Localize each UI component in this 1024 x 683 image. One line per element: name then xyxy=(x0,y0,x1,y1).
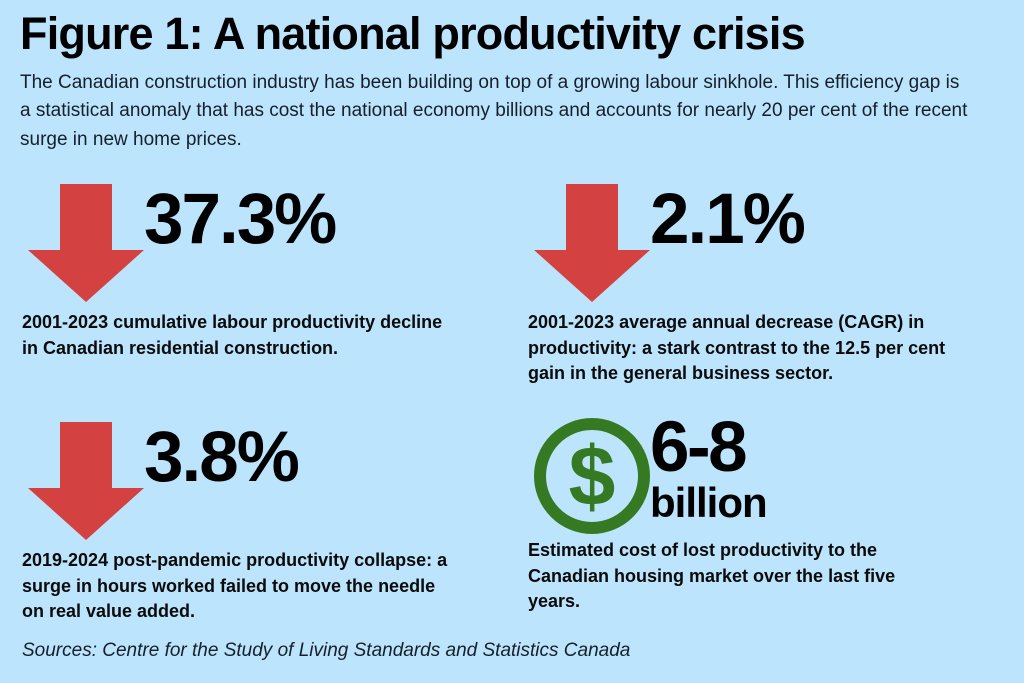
figure-header: Figure 1: A national productivity crisis… xyxy=(20,10,1004,155)
stats-grid: 37.3% 2001-2023 cumulative labour produc… xyxy=(0,178,1024,618)
stat-value-group-2: 2.1% xyxy=(650,178,998,255)
stat-caption-1: 2001-2023 cumulative labour productivity… xyxy=(22,310,452,361)
dollar-circle-icon: $ xyxy=(528,406,656,534)
stat-block-2: 2.1% 2001-2023 average annual decrease (… xyxy=(528,178,998,387)
down-arrow-icon xyxy=(22,416,150,544)
infographic-figure: Figure 1: A national productivity crisis… xyxy=(0,0,1024,683)
intro-paragraph: The Canadian construction industry has b… xyxy=(20,69,972,156)
stat-value-group-1: 37.3% xyxy=(144,178,492,255)
stat-headline-2: 2.1% xyxy=(528,178,998,306)
stat-headline-4: $ 6-8 billion xyxy=(528,406,998,534)
stat-caption-3: 2019-2024 post-pandemic productivity col… xyxy=(22,548,452,625)
stat-value-3: 3.8% xyxy=(144,422,492,493)
sources-note: Sources: Centre for the Study of Living … xyxy=(22,640,630,662)
stat-caption-2: 2001-2023 average annual decrease (CAGR)… xyxy=(528,310,948,387)
stat-value-4: 6-8 xyxy=(650,412,998,483)
stat-value-1: 37.3% xyxy=(144,184,492,255)
stat-block-4: $ 6-8 billion Estimated cost of lost pro… xyxy=(528,406,998,615)
stat-headline-3: 3.8% xyxy=(22,416,492,544)
stat-block-3: 3.8% 2019-2024 post-pandemic productivit… xyxy=(22,416,492,625)
stat-value-2: 2.1% xyxy=(650,184,998,255)
stat-value-group-3: 3.8% xyxy=(144,416,492,493)
stat-unit-4: billion xyxy=(650,481,998,525)
down-arrow-icon xyxy=(528,178,656,306)
stat-caption-4: Estimated cost of lost productivity to t… xyxy=(528,538,948,615)
stat-block-1: 37.3% 2001-2023 cumulative labour produc… xyxy=(22,178,492,361)
stat-value-group-4: 6-8 billion xyxy=(650,406,998,525)
down-arrow-icon xyxy=(22,178,150,306)
svg-text:$: $ xyxy=(569,429,616,523)
page-title: Figure 1: A national productivity crisis xyxy=(20,10,1004,59)
stat-headline-1: 37.3% xyxy=(22,178,492,306)
